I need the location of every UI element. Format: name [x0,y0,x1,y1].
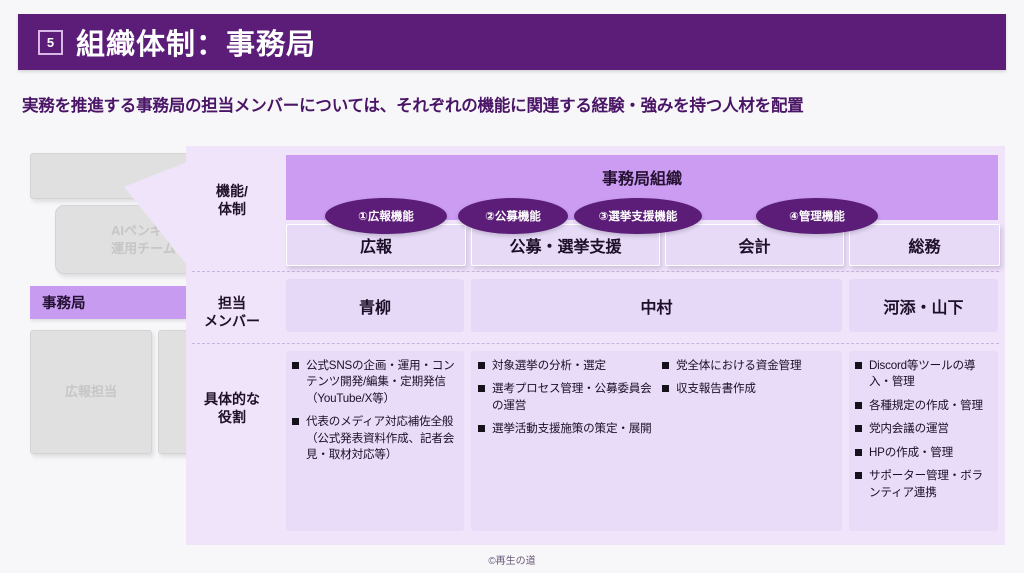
bg-box-secretariat-highlight: 事務局 [30,286,200,319]
list-item: 対象選挙の分析・選定 [477,358,655,374]
list-item: 選考プロセス管理・公募委員会の運営 [477,381,655,414]
member-cell-recruiting-election: 中村 [471,279,842,332]
department-cell-general-affairs: 総務 [849,224,1000,266]
list-item: 代表のメディア対応補佐全般（公式発表資料作成、記者会見・取材対応等） [291,414,459,463]
role-list-selection: 対象選挙の分析・選定選考プロセス管理・公募委員会の運営選挙活動支援施策の策定・展… [477,358,655,438]
role-subcolumn-selection: 対象選挙の分析・選定選考プロセス管理・公募委員会の運営選挙活動支援施策の策定・展… [477,358,655,445]
role-cell-pr: 公式SNSの企画・運用・コンテンツ開発/編集・定期発信（YouTube/X等）代… [286,351,464,531]
function-badge-election-support: ③選挙支援機能 [574,198,702,234]
row-label-role: 具体的な 役割 [186,390,278,426]
member-cell-pr: 青柳 [286,279,464,332]
slide: AIペンギン 運用チーム 事務局 広報担当 公募担当 5 組織体制：事務局 実務… [0,0,1024,573]
function-badge-management: ④管理機能 [756,198,878,234]
org-banner-label: 事務局組織 [286,165,998,189]
slide-title-bar: 5 組織体制：事務局 [18,14,1006,70]
role-list-finance: 党全体における資金管理収支報告書作成 [661,358,836,398]
row-separator-1 [192,271,999,272]
row-separator-2 [192,343,999,344]
page-title: 組織体制：事務局 [76,21,316,63]
role-list-general-affairs: Discord等ツールの導入・管理各種規定の作成・管理党内会議の運営HPの作成・… [854,358,993,501]
member-cell-general-affairs: 河添・山下 [849,279,998,332]
secretariat-table-panel: 事務局組織 機能/ 体制 担当 メンバー 具体的な 役割 ①広報機能 ②公募機能… [186,146,1005,545]
row-label-member: 担当 メンバー [186,294,278,330]
list-item: 収支報告書作成 [661,381,836,397]
footer-copyright: ©再生の道 [0,552,1024,567]
list-item: 党内会議の運営 [854,421,993,437]
list-item: 各種規定の作成・管理 [854,398,993,414]
role-subcolumn-finance: 党全体における資金管理収支報告書作成 [661,358,836,405]
role-cell-recruiting-accounting: 対象選挙の分析・選定選考プロセス管理・公募委員会の運営選挙活動支援施策の策定・展… [471,351,842,531]
role-list-pr: 公式SNSの企画・運用・コンテンツ開発/編集・定期発信（YouTube/X等）代… [291,358,459,464]
slide-number-badge: 5 [38,30,63,55]
slide-subtitle: 実務を推進する事務局の担当メンバーについては、それぞれの機能に関連する経験・強み… [22,92,804,116]
list-item: サポーター管理・ボランティア連携 [854,468,993,501]
list-item: HPの作成・管理 [854,445,993,461]
bg-box-secretariat-label: 事務局 [42,292,86,313]
list-item: 党全体における資金管理 [661,358,836,374]
list-item: Discord等ツールの導入・管理 [854,358,993,391]
list-item: 選挙活動支援施策の策定・展開 [477,421,655,437]
row-label-function: 機能/ 体制 [186,182,278,218]
function-badge-recruiting: ②公募機能 [458,198,568,234]
role-cell-general-affairs: Discord等ツールの導入・管理各種規定の作成・管理党内会議の運営HPの作成・… [849,351,998,531]
list-item: 公式SNSの企画・運用・コンテンツ開発/編集・定期発信（YouTube/X等） [291,358,459,407]
bg-box-pr: 広報担当 [30,330,152,454]
function-badge-pr: ①広報機能 [325,198,447,234]
